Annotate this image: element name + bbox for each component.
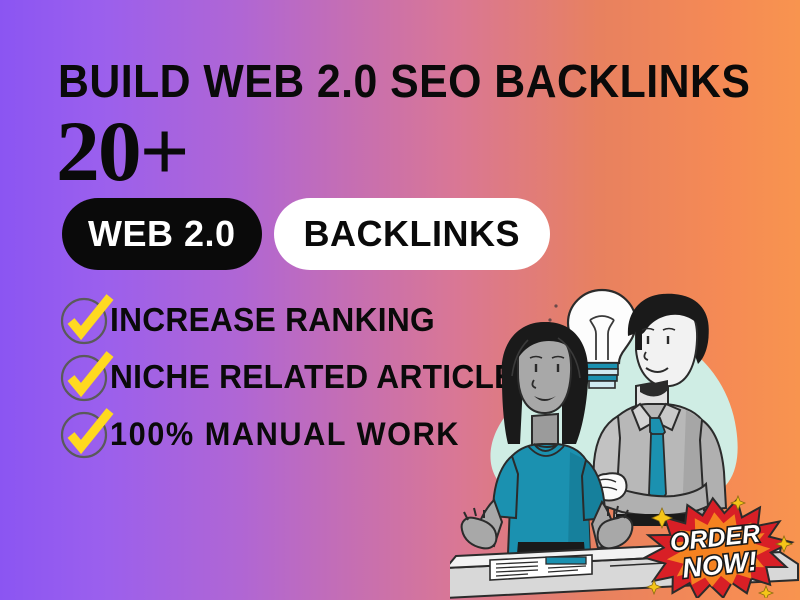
check-circle-icon [58,296,110,344]
quantity-highlight: 20+ [56,108,188,194]
list-item-label: 100% MANUAL WORK [110,416,460,453]
badge-web20: WEB 2.0 [62,198,262,270]
badge-row: WEB 2.0 BACKLINKS [62,198,550,270]
page-title: BUILD WEB 2.0 SEO BACKLINKS [58,58,709,104]
promo-poster: BUILD WEB 2.0 SEO BACKLINKS 20+ WEB 2.0 … [0,0,800,600]
order-now-button[interactable]: ORDER NOW! [638,494,798,598]
check-circle-icon [58,353,110,401]
badge-backlinks: BACKLINKS [274,198,551,270]
list-item-label: INCREASE RANKING [110,301,435,339]
check-circle-icon [58,410,110,458]
